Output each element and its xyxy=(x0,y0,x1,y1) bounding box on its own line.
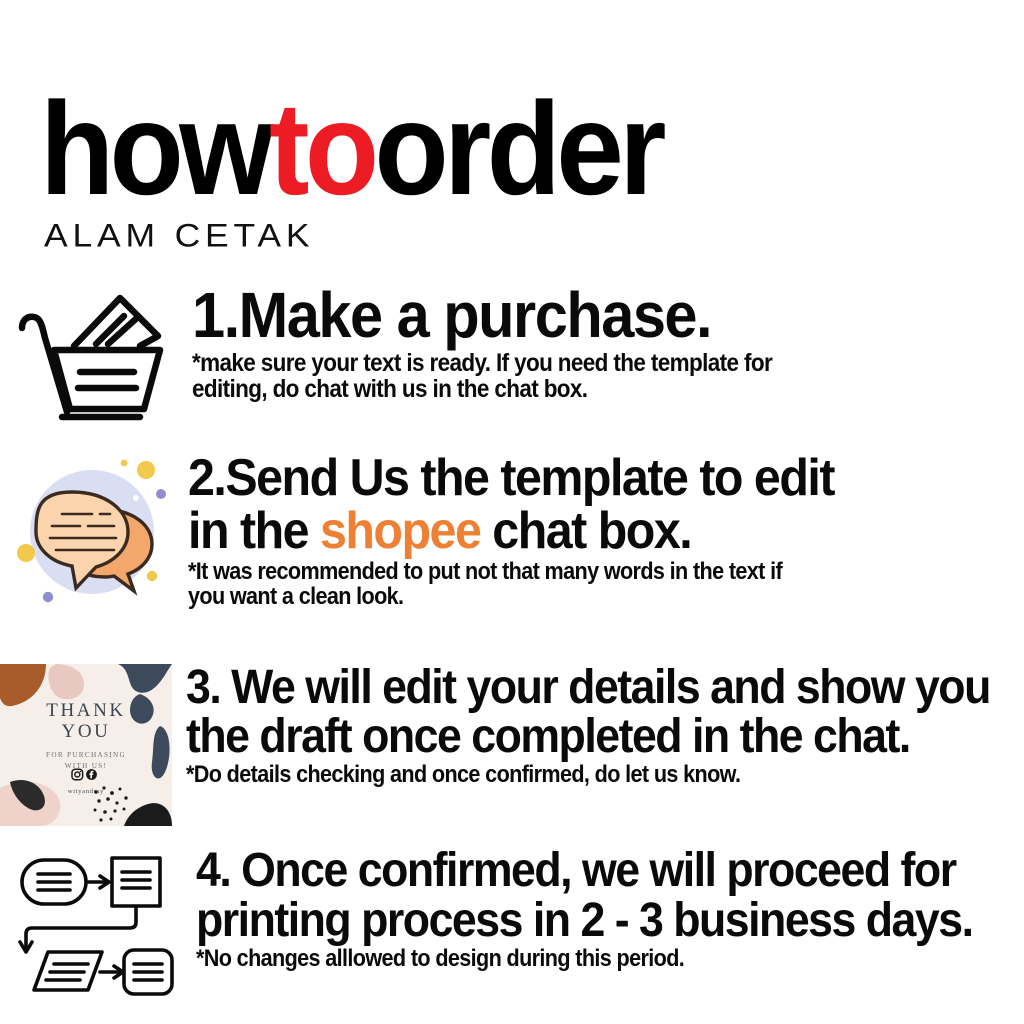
dot-yellow-top xyxy=(137,461,155,479)
poster-header: howtoorder ALAM CETAK xyxy=(40,88,984,257)
title-part-order: order xyxy=(374,75,661,222)
step-1-icon-wrap xyxy=(12,284,180,424)
flowchart-icon xyxy=(12,846,180,996)
step-4-icon-wrap xyxy=(12,846,180,996)
step-2-icon-wrap xyxy=(10,452,178,610)
how-to-order-poster: howtoorder ALAM CETAK xyxy=(0,0,1024,1024)
step-2-note: *It was recommended to put not that many… xyxy=(188,560,937,610)
step-2-note-line-2: you want a clean look. xyxy=(188,585,937,610)
instagram-icon xyxy=(72,769,83,780)
shopee-brand-label: shopee xyxy=(320,502,480,560)
thank-you-handle: wityandray xyxy=(0,788,172,795)
facebook-icon xyxy=(86,769,97,780)
step-2-heading: 2.Send Us the template to edit in the sh… xyxy=(188,452,962,558)
step-2-heading-line-2: in the shopee chat box. xyxy=(188,505,962,558)
thank-you-card-image: THANK YOU FOR PURCHASING WITH US! xyxy=(0,664,172,826)
step-3-body: 3. We will edit your details and show yo… xyxy=(172,664,1024,788)
step-item-3: THANK YOU FOR PURCHASING WITH US! xyxy=(0,664,1020,826)
step-3-note-line-1: *Do details checking and once confirmed,… xyxy=(186,763,964,788)
step-4-note-line-1: *No changes alllowed to design during th… xyxy=(196,947,947,972)
chat-bubbles-icon xyxy=(10,452,178,610)
thank-you-sub-1: FOR PURCHASING xyxy=(0,750,172,761)
step-item-1: 1.Make a purchase. *make sure your text … xyxy=(12,284,1012,424)
step-1-heading: 1.Make a purchase. xyxy=(192,284,955,347)
title-part-to: to xyxy=(269,75,374,222)
brand-subtitle: ALAM CETAK xyxy=(44,218,946,255)
title-part-how: how xyxy=(40,75,269,222)
dot-yellow-bottom-right xyxy=(147,571,157,581)
step-2-note-line-1: *It was recommended to put not that many… xyxy=(188,560,937,585)
dot-white xyxy=(133,495,139,501)
step-3-note: *Do details checking and once confirmed,… xyxy=(186,763,964,788)
step-1-note-line-1: *make sure your text is ready. If you ne… xyxy=(192,350,930,376)
step-4-note: *No changes alllowed to design during th… xyxy=(196,947,947,972)
thank-you-line-2: YOU xyxy=(0,721,172,742)
thank-you-text: THANK YOU FOR PURCHASING WITH US! xyxy=(0,700,172,772)
step-1-body: 1.Make a purchase. *make sure your text … xyxy=(180,284,1012,402)
step-1-note: *make sure your text is ready. If you ne… xyxy=(192,350,930,402)
step-item-4: 4. Once confirmed, we will proceed for p… xyxy=(12,846,1022,996)
dot-purple-bottom xyxy=(43,592,53,602)
page-title: howtoorder xyxy=(40,88,908,209)
step-2-heading-line-1: 2.Send Us the template to edit xyxy=(188,452,962,505)
step-3-heading-line-2: the draft once completed in the chat. xyxy=(186,713,990,762)
shopping-cart-icon xyxy=(12,284,180,424)
social-icons-group xyxy=(71,768,101,781)
step-1-note-line-2: editing, do chat with us in the chat box… xyxy=(192,376,930,402)
dot-yellow-left xyxy=(17,544,35,562)
dot-purple-right xyxy=(156,489,166,499)
step-2-body: 2.Send Us the template to edit in the sh… xyxy=(178,452,1020,610)
thank-you-social-row: wityandray xyxy=(0,768,172,795)
step-3-heading-line-1: 3. We will edit your details and show yo… xyxy=(186,664,990,713)
step-4-heading: 4. Once confirmed, we will proceed for p… xyxy=(196,846,972,946)
step-4-heading-line-2: printing process in 2 - 3 business days. xyxy=(196,896,972,946)
step-4-body: 4. Once confirmed, we will proceed for p… xyxy=(180,846,1024,972)
step-3-heading: 3. We will edit your details and show yo… xyxy=(186,664,990,762)
thank-you-line-1: THANK xyxy=(0,700,172,721)
step-2-heading-before: in the xyxy=(188,502,320,560)
dot-yellow-small-top xyxy=(121,460,128,467)
step-2-heading-after: chat box. xyxy=(480,502,691,560)
step-4-heading-line-1: 4. Once confirmed, we will proceed for xyxy=(196,846,972,896)
flow-node-square xyxy=(112,858,160,906)
step-item-2: 2.Send Us the template to edit in the sh… xyxy=(10,452,1020,610)
step-3-icon-wrap: THANK YOU FOR PURCHASING WITH US! xyxy=(0,664,172,826)
